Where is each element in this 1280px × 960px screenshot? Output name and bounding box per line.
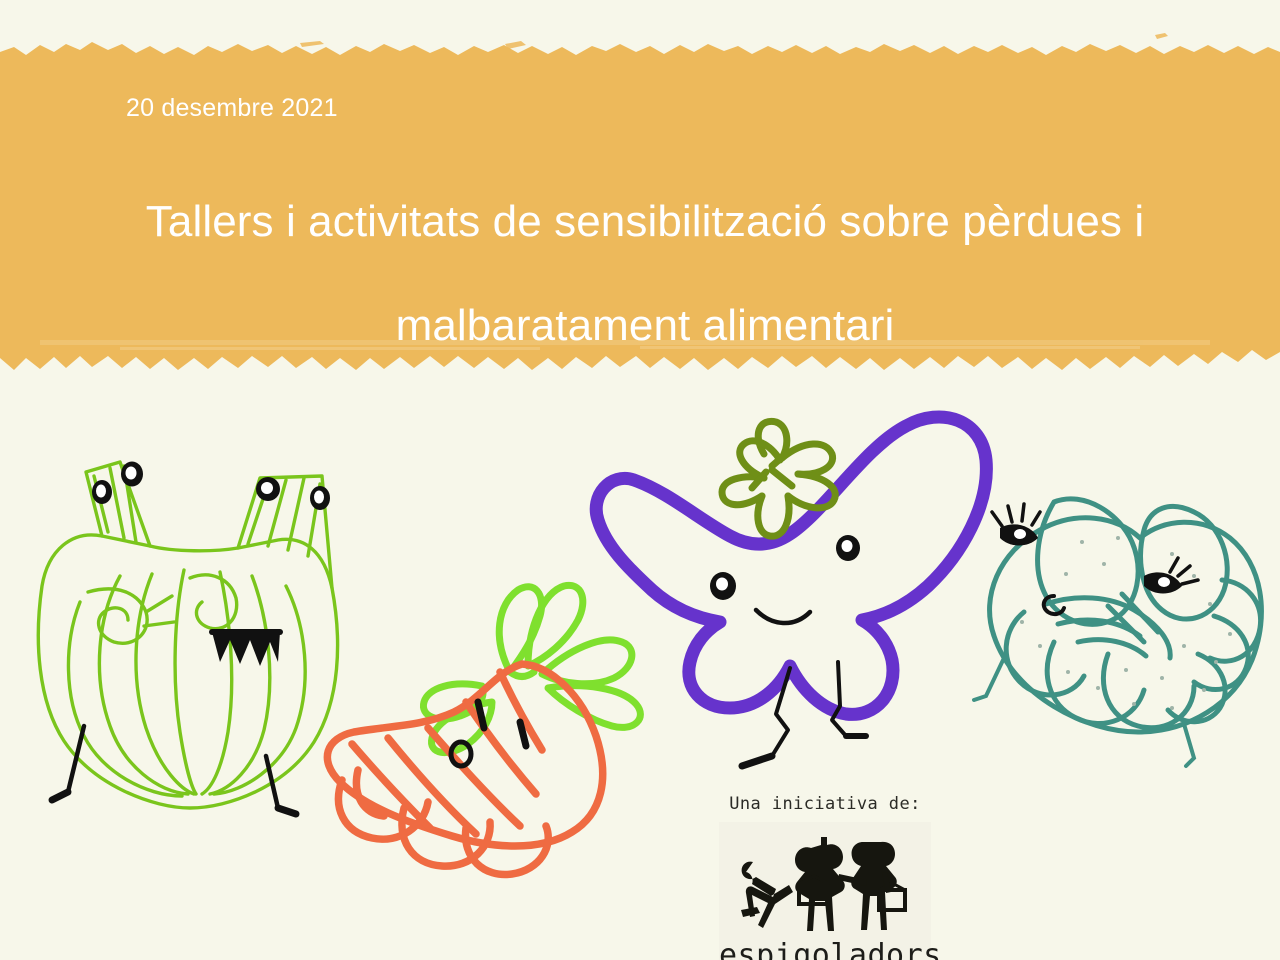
eggplant-stem (722, 421, 835, 536)
slide-date: 20 desembre 2021 (126, 94, 338, 123)
gleaners-icon (719, 828, 919, 936)
eggplant-face (710, 535, 860, 623)
page-title-line-2: malbaratament alimentari (50, 274, 1240, 378)
eggplant-character (576, 400, 1006, 780)
initiative-logo: Una iniciativa de: (700, 794, 950, 960)
logo-caption: Una iniciativa de: (700, 794, 950, 814)
page-title: Tallers i activitats de sensibilització … (50, 170, 1240, 378)
title-banner: 20 desembre 2021 Tallers i activitats de… (0, 0, 1280, 400)
slide-canvas: 20 desembre 2021 Tallers i activitats de… (0, 0, 1280, 960)
artichoke-drawing (958, 446, 1280, 776)
page-title-line-1: Tallers i activitats de sensibilització … (50, 170, 1240, 274)
eggplant-drawing (576, 400, 1006, 780)
illustration-area: Una iniciativa de: (0, 396, 1280, 960)
artichoke-character (958, 446, 1280, 776)
logo-wordmark: espigoladors (719, 938, 931, 960)
logo-card: espigoladors (719, 822, 931, 960)
banner-text-layer: 20 desembre 2021 Tallers i activitats de… (0, 0, 1280, 400)
